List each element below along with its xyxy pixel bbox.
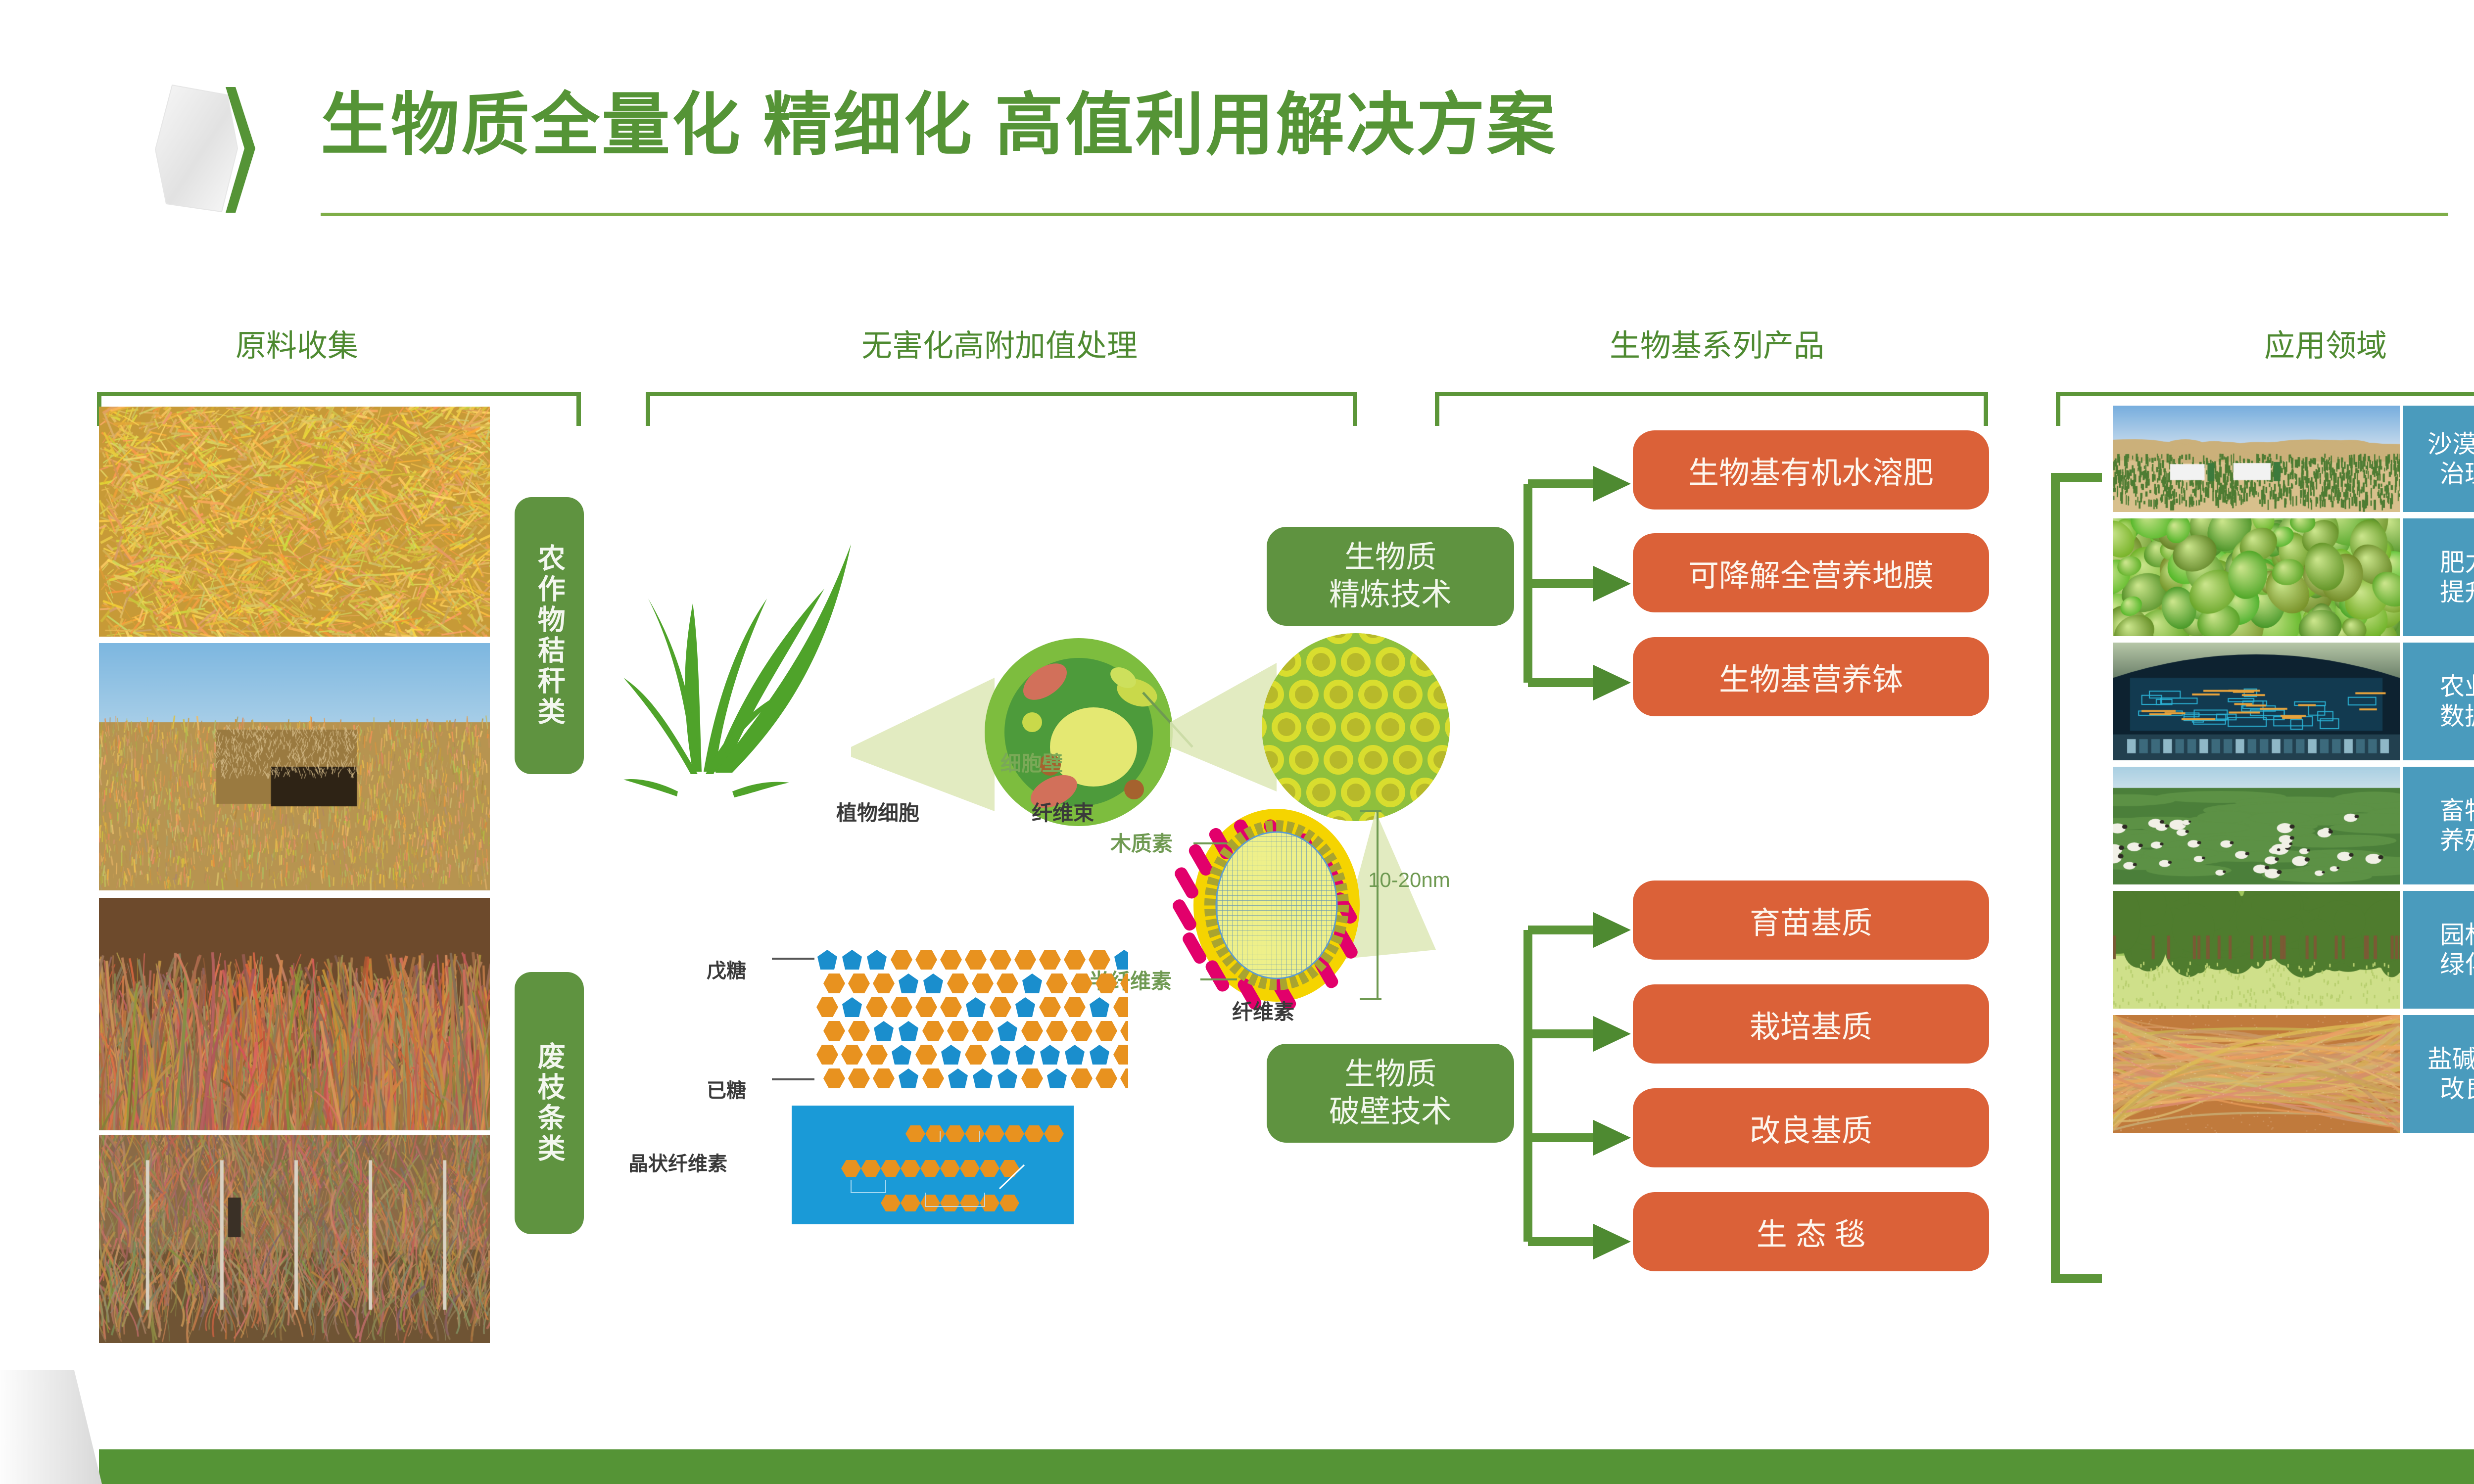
label-nano-scale: 10-20nm xyxy=(1368,868,1450,892)
label-cellulose: 纤维素 xyxy=(1232,995,1294,1025)
hexagon-logo-icon xyxy=(139,74,262,223)
zoom-beam-2 xyxy=(1170,663,1277,791)
product-pill-cultivation-substrate[interactable]: 栽培基质 xyxy=(1633,984,1989,1064)
app-saline-line2: 改良 xyxy=(2440,1074,2474,1104)
grass-illustration xyxy=(623,544,851,797)
section-heading-products: 生物基系列产品 xyxy=(1425,321,2009,365)
label-fiber-bundle: 纤维束 xyxy=(1032,796,1094,827)
app-greening-line1: 园林 xyxy=(2440,920,2474,950)
label-cell-wall: 细胞壁 xyxy=(1000,747,1063,777)
infographic-slide: 生物质全量化 精细化 高值利用解决方案 原料收集 无害化高附加值处理 生物基系列… xyxy=(0,0,2474,1484)
zoom-beam-1 xyxy=(851,678,995,811)
application-tile-greening[interactable]: 园林 绿化 xyxy=(2403,891,2474,1009)
label-crystalline-cellulose: 晶状纤维素 xyxy=(628,1148,727,1176)
tech-refining-line1: 生物质 xyxy=(1344,539,1436,576)
label-hexose: 已糖 xyxy=(707,1074,746,1103)
app-saline-line1: 盐碱地 xyxy=(2427,1044,2474,1074)
label-lignin: 木质素 xyxy=(1110,827,1173,857)
app-desert-line2: 治理 xyxy=(2440,459,2474,489)
application-tile-livestock[interactable]: 畜牧 养殖 xyxy=(2403,767,2474,884)
cellwall-leader-line xyxy=(1143,693,1192,747)
product-pill-nutrient-pot[interactable]: 生物基营养钵 xyxy=(1633,637,1989,716)
vineyard-prunings-photo xyxy=(99,1135,490,1343)
corn-stover-photo xyxy=(99,407,490,637)
app-data-line2: 数据 xyxy=(2440,701,2474,731)
app-greening-line2: 绿化 xyxy=(2440,950,2474,979)
sheep-grassland-photo xyxy=(2113,767,2400,884)
label-pentose: 戊糖 xyxy=(707,955,746,983)
section-heading-raw: 原料收集 xyxy=(188,321,406,365)
tech-wallbreaking-line1: 生物质 xyxy=(1344,1056,1436,1093)
app-data-line1: 农业 xyxy=(2440,672,2474,701)
straw-bale-photo xyxy=(99,643,490,890)
application-tile-saline-land[interactable]: 盐碱地 改良 xyxy=(2403,1015,2474,1133)
label-plant-cell: 植物细胞 xyxy=(836,796,919,827)
cabbage-field-photo xyxy=(2113,518,2400,636)
bracket-products xyxy=(1435,392,1988,426)
label-hemicellulose: 半纤维素 xyxy=(1089,965,1172,995)
saline-land-photo xyxy=(2113,1015,2400,1133)
product-pill-ecological-blanket[interactable]: 生 态 毯 xyxy=(1633,1192,1989,1271)
section-heading-process: 无害化高附加值处理 xyxy=(663,321,1336,365)
raw-tag-crop-straw: 农作物秸秆类 xyxy=(515,497,584,774)
section-heading-apps: 应用领域 xyxy=(2078,321,2474,365)
page-title: 生物质全量化 精细化 高值利用解决方案 xyxy=(321,88,1557,163)
product-pill-improvement-substrate[interactable]: 改良基质 xyxy=(1633,1088,1989,1167)
dry-branches-photo xyxy=(99,898,490,1130)
title-underline xyxy=(321,213,2448,216)
footer-wedge-decoration xyxy=(0,1370,104,1484)
bracket-process xyxy=(646,392,1357,426)
connector-applications xyxy=(2044,472,2108,1284)
data-center-photo xyxy=(2113,643,2400,760)
app-desert-line1: 沙漠化 xyxy=(2427,429,2474,459)
sugar-chain-diagram xyxy=(772,945,1128,1103)
product-pill-seedling-substrate[interactable]: 育苗基质 xyxy=(1633,881,1989,960)
application-tile-fertility[interactable]: 肥力 提升 xyxy=(2403,518,2474,636)
application-tile-agri-data[interactable]: 农业 数据 xyxy=(2403,643,2474,760)
app-fertility-line2: 提升 xyxy=(2440,577,2474,607)
landscape-greening-photo xyxy=(2113,891,2400,1009)
app-livestock-line1: 畜牧 xyxy=(2440,796,2474,826)
footer-green-bar xyxy=(99,1449,2474,1484)
product-pill-watersoluble-fertilizer[interactable]: 生物基有机水溶肥 xyxy=(1633,430,1989,510)
raw-tag-waste-branches: 废枝条类 xyxy=(515,972,584,1234)
tech-pill-wallbreaking[interactable]: 生物质 破壁技术 xyxy=(1267,1044,1514,1143)
application-tile-desertification[interactable]: 沙漠化 治理 xyxy=(2403,406,2474,512)
desert-control-photo xyxy=(2113,406,2400,512)
app-livestock-line2: 养殖 xyxy=(2440,826,2474,855)
tech-refining-line2: 精炼技术 xyxy=(1329,576,1452,614)
product-pill-degradable-mulch-film[interactable]: 可降解全营养地膜 xyxy=(1633,533,1989,612)
app-fertility-line1: 肥力 xyxy=(2440,548,2474,577)
crystalline-cellulose-panel xyxy=(792,1106,1074,1224)
tech-pill-refining[interactable]: 生物质 精炼技术 xyxy=(1267,527,1514,626)
tech-wallbreaking-line2: 破壁技术 xyxy=(1329,1093,1452,1131)
